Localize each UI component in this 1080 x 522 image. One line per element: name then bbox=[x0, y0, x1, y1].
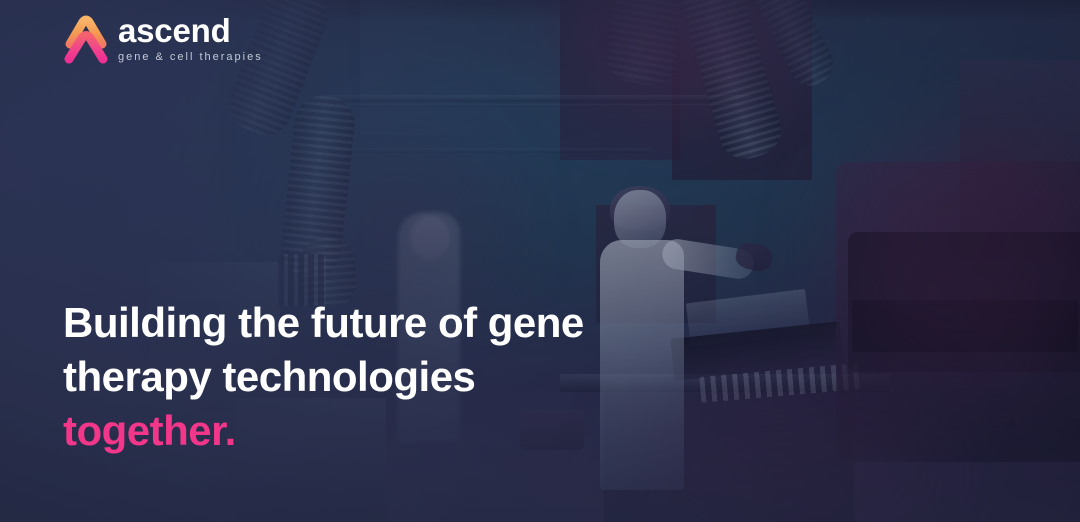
ascend-chevron-icon bbox=[63, 14, 109, 64]
logo-wordmark: ascend bbox=[118, 14, 263, 49]
brand-logo[interactable]: ascend gene & cell therapies bbox=[63, 12, 263, 64]
headline-line-2: therapy technologies bbox=[63, 350, 584, 404]
logo-text-lockup: ascend gene & cell therapies bbox=[118, 12, 263, 63]
hero-banner: ascend gene & cell therapies Building th… bbox=[0, 0, 1080, 522]
headline-line-3: together. bbox=[63, 404, 584, 458]
hero-headline: Building the future of gene therapy tech… bbox=[63, 296, 584, 458]
headline-line-1: Building the future of gene bbox=[63, 296, 584, 350]
logo-tagline: gene & cell therapies bbox=[118, 52, 263, 63]
